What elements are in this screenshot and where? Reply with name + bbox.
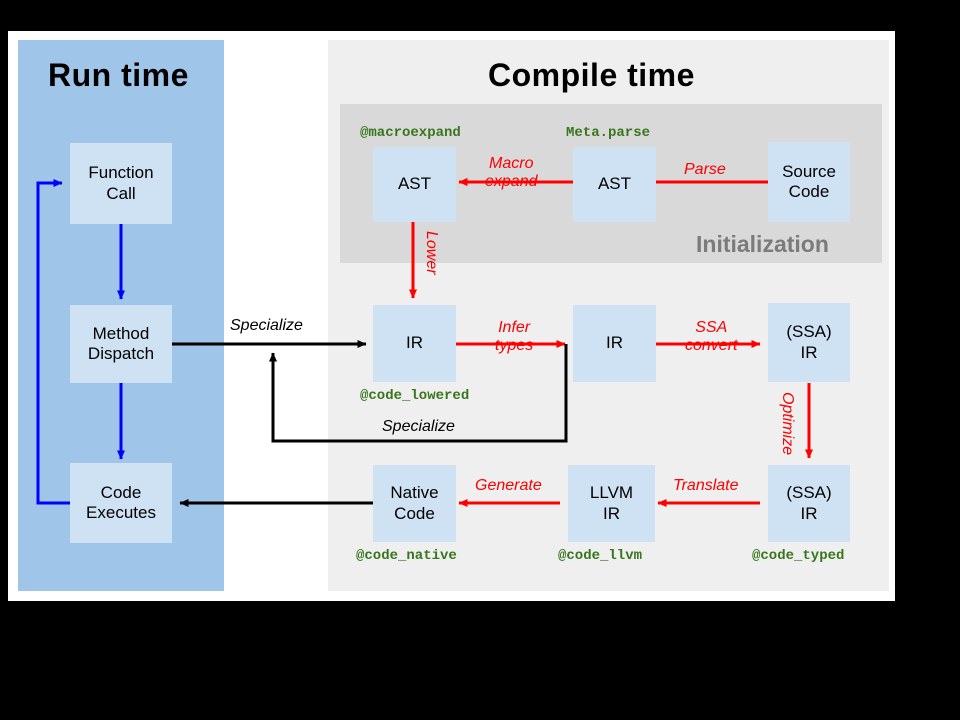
edge-label-specialize-top: Specialize (230, 317, 303, 335)
compile-title: Compile time (488, 57, 695, 94)
edge-label-specialize-bottom: Specialize (382, 418, 455, 436)
tag-code-native: @code_native (356, 548, 457, 564)
node-source-code-line2: Code (789, 182, 830, 201)
node-ssa-ir-line1: (SSA) (786, 322, 831, 341)
node-ast-parsed-label: AST (598, 174, 631, 194)
edge-label-lower: Lower (422, 231, 440, 275)
edge-label-translate: Translate (673, 477, 739, 495)
tag-code-llvm: @code_llvm (558, 548, 642, 564)
node-code-executes-line2: Executes (86, 503, 156, 522)
node-ast-parsed[interactable]: AST (573, 147, 656, 222)
tag-macroexpand: @macroexpand (360, 125, 461, 141)
node-ssa-ir-optimized-line2: IR (801, 504, 818, 523)
edge-label-parse: Parse (684, 161, 726, 179)
node-source-code[interactable]: Source Code (768, 142, 850, 222)
node-ast-expanded[interactable]: AST (373, 147, 456, 222)
node-function-call-line1: Function (88, 163, 153, 182)
node-native-code-line1: Native (390, 483, 438, 502)
node-llvm-ir-line2: IR (603, 504, 620, 523)
node-source-code-line1: Source (782, 162, 836, 181)
tag-code-typed: @code_typed (752, 548, 844, 564)
node-ssa-ir-line2: IR (801, 343, 818, 362)
node-ssa-ir-optimized-line1: (SSA) (786, 483, 831, 502)
tag-meta-parse: Meta.parse (566, 125, 650, 141)
node-ir-typed[interactable]: IR (573, 305, 656, 382)
node-native-code-line2: Code (394, 504, 435, 523)
node-method-dispatch[interactable]: Method Dispatch (70, 305, 172, 383)
edge-label-macro-expand-line1: Macro (489, 155, 533, 172)
node-ir-typed-label: IR (606, 333, 623, 353)
node-ssa-ir[interactable]: (SSA) IR (768, 303, 850, 382)
node-llvm-ir-line1: LLVM (590, 483, 633, 502)
edge-label-macro-expand: Macro expand (485, 155, 538, 190)
initialization-label: Initialization (696, 231, 829, 258)
tag-code-lowered: @code_lowered (360, 388, 469, 404)
edge-label-generate: Generate (475, 477, 542, 495)
runtime-title: Run time (48, 57, 189, 94)
node-ir-lowered[interactable]: IR (373, 305, 456, 382)
edge-label-infer-types-line2: types (495, 337, 533, 354)
node-function-call-line2: Call (106, 184, 135, 203)
edge-label-ssa-convert-line2: convert (685, 337, 737, 354)
edge-label-infer-types-line1: Infer (498, 319, 530, 336)
node-ir-lowered-label: IR (406, 333, 423, 353)
edge-label-optimize: Optimize (778, 392, 796, 455)
node-ast-expanded-label: AST (398, 174, 431, 194)
edge-label-ssa-convert-line1: SSA (695, 319, 727, 336)
edge-label-infer-types: Infer types (495, 319, 533, 354)
edge-label-macro-expand-line2: expand (485, 173, 538, 190)
node-function-call[interactable]: Function Call (70, 143, 172, 224)
node-method-dispatch-line2: Dispatch (88, 344, 154, 363)
node-llvm-ir[interactable]: LLVM IR (568, 465, 655, 542)
node-ssa-ir-optimized[interactable]: (SSA) IR (768, 465, 850, 542)
edge-label-ssa-convert: SSA convert (685, 319, 737, 354)
node-native-code[interactable]: Native Code (373, 465, 456, 542)
node-method-dispatch-line1: Method (93, 324, 150, 343)
node-code-executes-line1: Code (101, 483, 142, 502)
diagram-canvas: Run time Compile time Initialization (8, 31, 895, 601)
node-code-executes[interactable]: Code Executes (70, 463, 172, 543)
